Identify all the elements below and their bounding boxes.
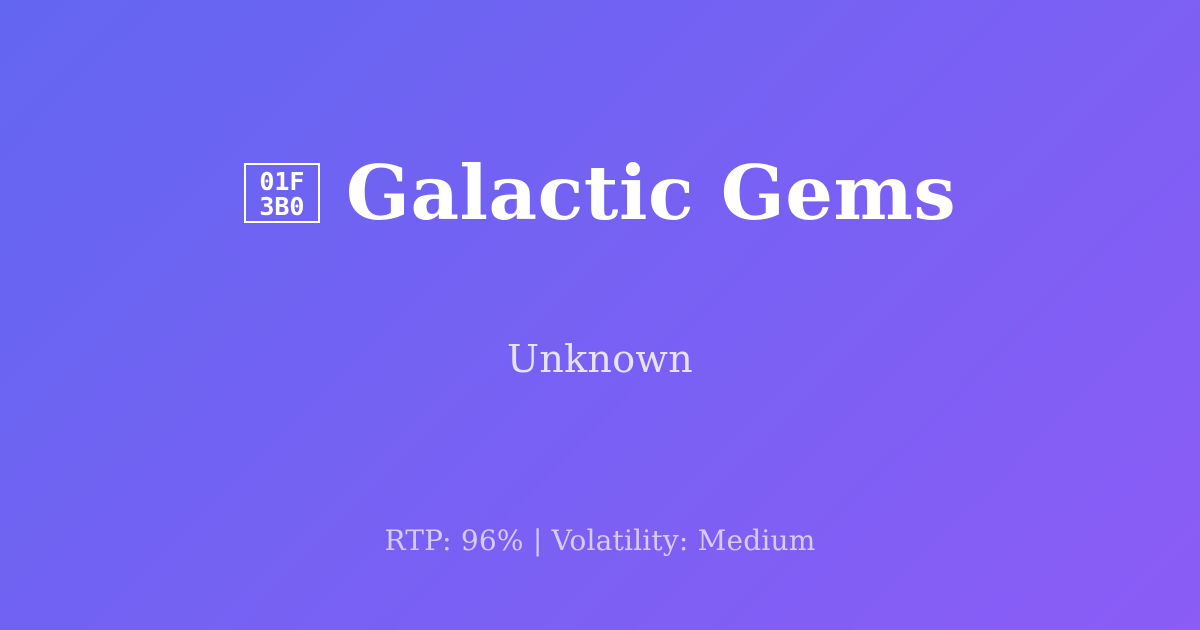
page-subtitle: Unknown (507, 337, 693, 381)
title-row: 01F 3B0 Galactic Gems (244, 105, 956, 281)
page-title: Galactic Gems (346, 156, 956, 231)
og-share-card: 01F 3B0 Galactic Gems Unknown RTP: 96% |… (0, 0, 1200, 630)
hero-block: 01F 3B0 Galactic Gems Unknown (0, 0, 1200, 492)
tofu-codepoint-top: 01F (259, 169, 304, 194)
slot-machine-icon: 01F 3B0 (244, 163, 320, 223)
tofu-codepoint-bottom: 3B0 (259, 194, 304, 219)
game-meta-line: RTP: 96% | Volatility: Medium (0, 524, 1200, 557)
